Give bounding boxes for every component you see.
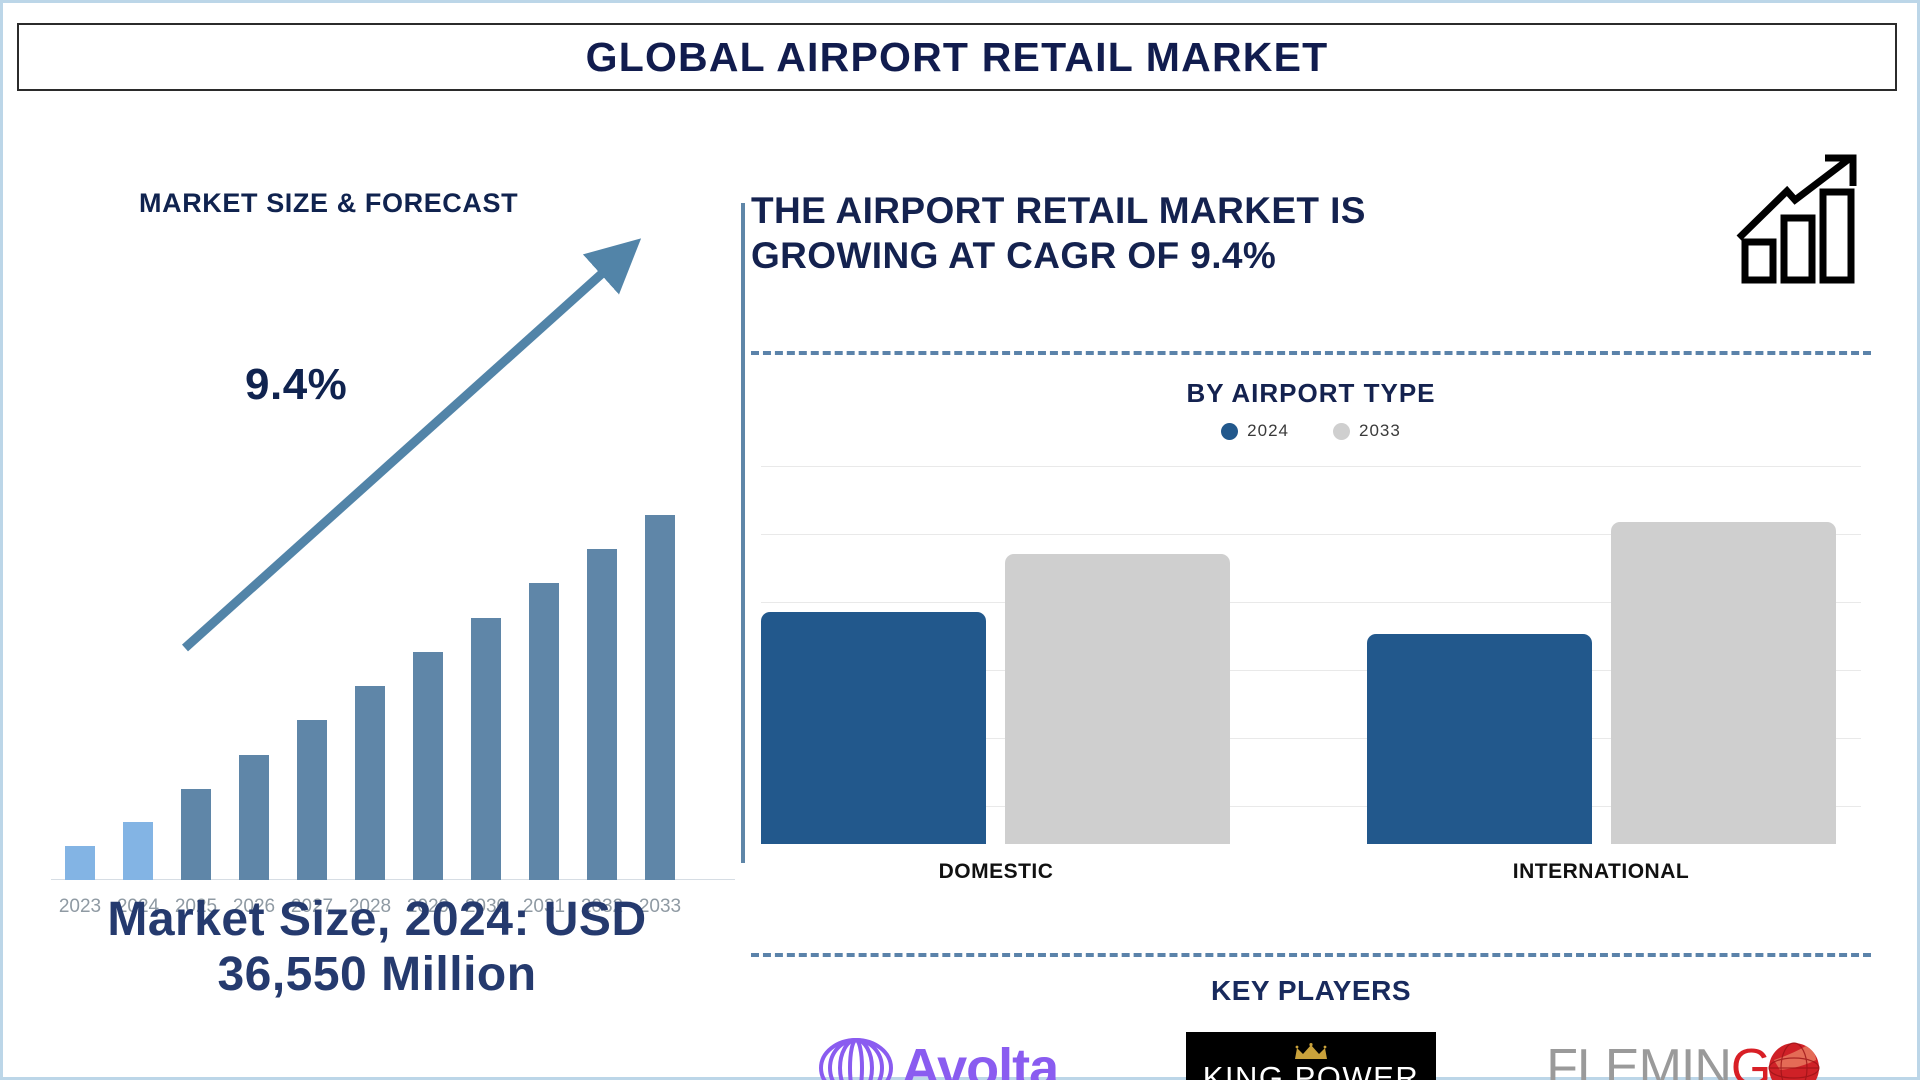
market-size-line-2: 36,550 Million <box>17 948 737 1003</box>
bar-domestic-2033 <box>1005 554 1230 844</box>
king-power-wordmark: KING POWER <box>1203 1062 1420 1080</box>
bar-column <box>355 686 385 880</box>
airport-type-panel: THE AIRPORT RETAIL MARKET IS GROWING AT … <box>751 98 1909 1058</box>
logo-avolta[interactable]: Avolta <box>773 1022 1103 1080</box>
flemingo-wordmark-red: G <box>1731 1042 1770 1080</box>
avolta-wordmark: Avolta <box>901 1041 1058 1080</box>
bar-column <box>413 652 443 880</box>
bar-column <box>471 618 501 880</box>
divider-dashed-bottom <box>751 953 1871 957</box>
growth-headline-line-2: GROWING AT CAGR OF 9.4% <box>751 233 1511 278</box>
market-size-heading: MARKET SIZE & FORECAST <box>139 188 518 219</box>
legend-dot-icon <box>1333 423 1350 440</box>
title-bar: GLOBAL AIRPORT RETAIL MARKET <box>17 23 1897 91</box>
bar-domestic-2024 <box>761 612 986 844</box>
key-players-logos: Avolta KING POWER FLEMIN <box>751 1018 1871 1080</box>
bar-column <box>123 822 153 880</box>
bar-column <box>65 846 95 880</box>
infographic-page: GLOBAL AIRPORT RETAIL MARKET MARKET SIZE… <box>0 0 1920 1080</box>
legend-item-2024[interactable]: 2024 <box>1221 421 1289 441</box>
growth-headline: THE AIRPORT RETAIL MARKET IS GROWING AT … <box>751 188 1511 278</box>
growth-bar-chart-arrow-icon <box>1729 146 1869 286</box>
logo-flemingo[interactable]: FLEMIN G <box>1519 1022 1849 1080</box>
legend-label: 2033 <box>1359 421 1401 441</box>
market-size-value: Market Size, 2024: USD 36,550 Million <box>17 893 737 1002</box>
logo-king-power[interactable]: KING POWER <box>1146 1022 1476 1080</box>
bar-international-2033 <box>1611 522 1836 844</box>
page-title: GLOBAL AIRPORT RETAIL MARKET <box>586 34 1329 81</box>
bar-column <box>645 515 675 880</box>
chart-plot-area <box>761 466 1861 844</box>
bar-international-2024 <box>1367 634 1592 844</box>
gridline <box>761 466 1861 467</box>
bar-column <box>181 789 211 880</box>
chart-legend: 2024 2033 <box>751 421 1871 441</box>
growth-headline-line-1: THE AIRPORT RETAIL MARKET IS <box>751 188 1511 233</box>
legend-item-2033[interactable]: 2033 <box>1333 421 1401 441</box>
category-label-domestic: DOMESTIC <box>761 860 1231 884</box>
chart-axis-line <box>51 879 735 880</box>
airport-type-bar-chart: DOMESTIC INTERNATIONAL <box>751 466 1871 886</box>
segment-title: BY AIRPORT TYPE <box>751 378 1871 409</box>
market-size-panel: MARKET SIZE & FORECAST 9.4% 202 <box>17 98 737 1058</box>
category-label-international: INTERNATIONAL <box>1366 860 1836 884</box>
panel-divider <box>741 203 745 863</box>
legend-label: 2024 <box>1247 421 1289 441</box>
legend-dot-icon <box>1221 423 1238 440</box>
bar-column <box>529 583 559 880</box>
bar-column <box>297 720 327 880</box>
avolta-globe-icon <box>817 1035 895 1080</box>
divider-dashed-top <box>751 351 1871 355</box>
bar-column <box>239 755 269 880</box>
bar-column <box>587 549 617 880</box>
flemingo-globe-icon <box>1766 1040 1822 1080</box>
key-players-title: KEY PLAYERS <box>751 975 1871 1007</box>
flemingo-wordmark-grey: FLEMIN <box>1546 1042 1731 1080</box>
market-size-bar-chart: 2023 2024 2025 2026 2027 2028 2029 2030 … <box>45 298 735 926</box>
crown-icon <box>1293 1043 1329 1061</box>
market-size-line-1: Market Size, 2024: USD <box>17 893 737 948</box>
